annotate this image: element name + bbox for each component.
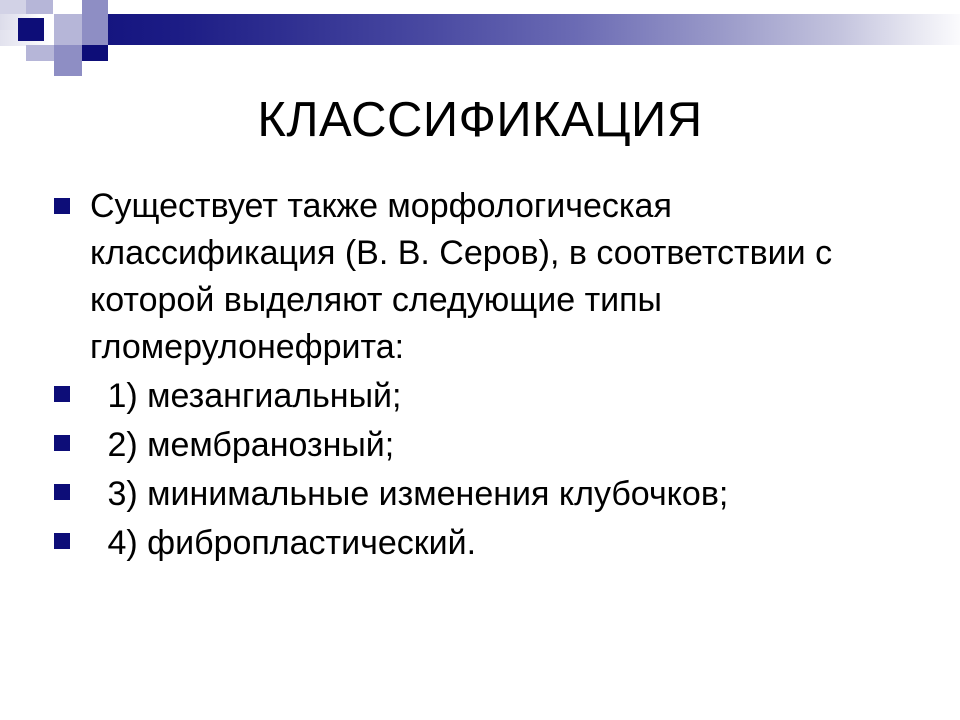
list-item-text: 4) фибропластический. (70, 520, 934, 567)
slide: КЛАССИФИКАЦИЯ Существует также морфологи… (0, 0, 960, 720)
square-bullet-icon (54, 435, 70, 451)
square-bullet-icon (54, 533, 70, 549)
mosaic-square-mid-top (82, 0, 108, 14)
square-bullet-icon (54, 198, 70, 214)
mosaic-square-dark-b (82, 45, 108, 61)
header-gradient-bar (108, 14, 960, 45)
list-item: 1) мезангиальный; (54, 373, 934, 420)
mosaic-square-mid-b (82, 14, 108, 45)
square-bullet-icon (54, 386, 70, 402)
list-item-text: 2) мембранозный; (70, 422, 934, 469)
list-item: Существует также морфологическая классиф… (54, 183, 934, 371)
list-item: 2) мембранозный; (54, 422, 934, 469)
header-decoration (0, 0, 960, 72)
list-item-text: 3) минимальные изменения клубочков; (70, 471, 934, 518)
mosaic-square-mid-d (54, 61, 82, 76)
list-item: 3) минимальные изменения клубочков; (54, 471, 934, 518)
mosaic-square-pale-a (0, 0, 26, 14)
list-item-text: Существует также морфологическая классиф… (70, 183, 850, 371)
bullet-list: Существует также морфологическая классиф… (54, 183, 934, 567)
mosaic-square-light-c (26, 45, 54, 61)
list-item: 4) фибропластический. (54, 520, 934, 567)
mosaic-square-light-a (26, 0, 53, 14)
mosaic-square-light-b (54, 14, 82, 45)
list-item-text: 1) мезангиальный; (70, 373, 934, 420)
square-bullet-icon (54, 484, 70, 500)
mosaic-square-mid-c (54, 45, 82, 61)
page-title: КЛАССИФИКАЦИЯ (0, 92, 960, 148)
mosaic-square-dark-accent (18, 18, 44, 41)
